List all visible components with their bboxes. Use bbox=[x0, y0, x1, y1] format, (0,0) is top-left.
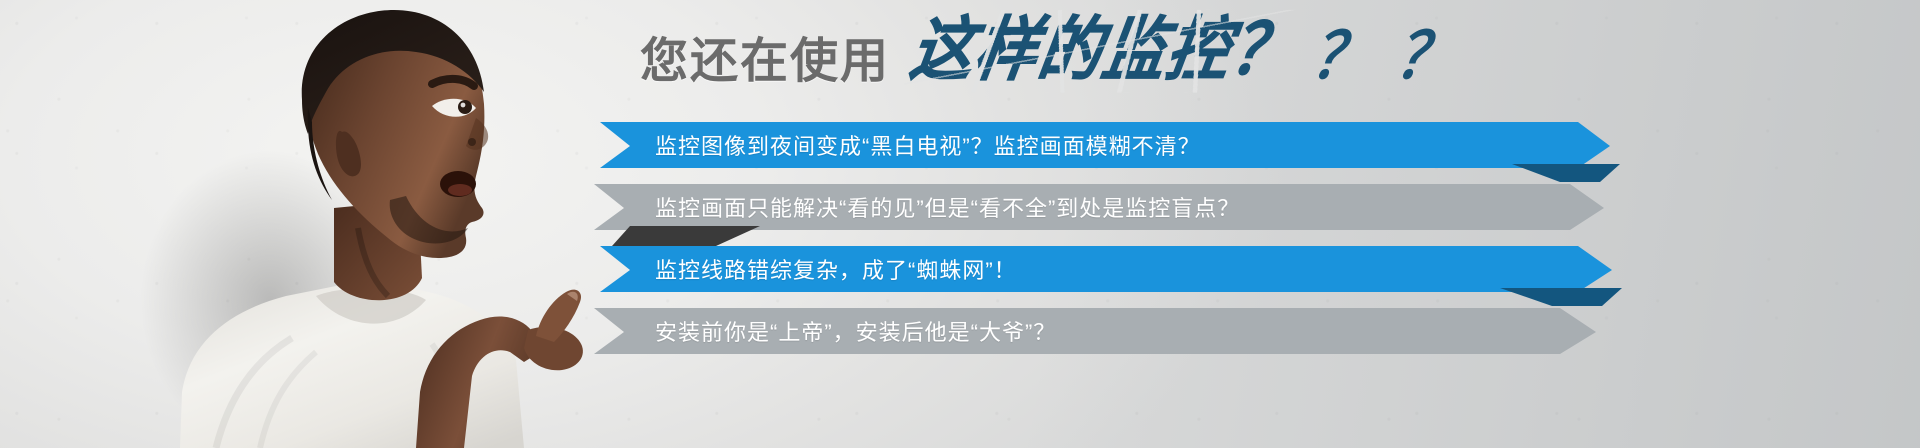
headline-emphasis-text: 这样的监控？ bbox=[905, 12, 1301, 89]
promo-banner: 您还在使用 这样的监控？ ？ ？ 监控图像到夜间变成“黑白电视”？监控画面模糊不… bbox=[0, 0, 1920, 448]
ribbon-item-4: 安装前你是“上帝”，安装后他是“大爷”？ bbox=[0, 302, 1920, 360]
question-mark-1: ？ bbox=[1307, 25, 1375, 89]
headline-lead: 您还在使用 bbox=[640, 38, 890, 86]
ribbon-list: 监控图像到夜间变成“黑白电视”？监控画面模糊不清？ 监控画面只能解决“看的见”但… bbox=[0, 116, 1920, 361]
ribbon-text-4: 安装前你是“上帝”，安装后他是“大爷”？ bbox=[655, 302, 1056, 360]
headline: 您还在使用 这样的监控？ ？ ？ bbox=[640, 24, 1454, 86]
headline-emphasis: 这样的监控？ bbox=[906, 17, 1301, 86]
headline-question-marks: ？ ？ bbox=[1312, 28, 1454, 86]
question-mark-2: ？ bbox=[1391, 25, 1459, 89]
